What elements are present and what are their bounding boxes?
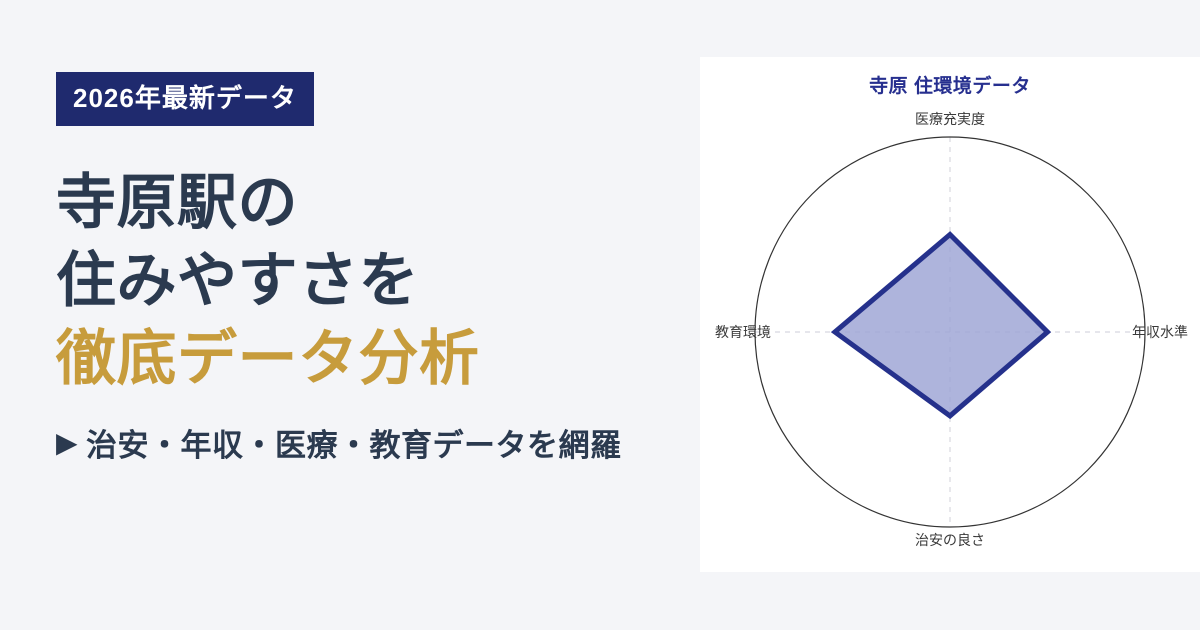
axis-label-bottom: 治安の良さ [915, 532, 985, 548]
axis-label-top: 医療充実度 [915, 111, 985, 127]
headline-line-2: 住みやすさを [56, 242, 700, 320]
axis-label-left: 教育環境 [715, 324, 771, 340]
headline-line-1: 寺原駅の [56, 164, 700, 242]
page-title: 寺原駅の 住みやすさを 徹底データ分析 [56, 164, 700, 398]
hero-text-column: 2026年最新データ 寺原駅の 住みやすさを 徹底データ分析 ▶ 治安・年収・医… [0, 0, 700, 630]
radar-chart-card: 寺原 住環境データ 医療充実度 年収水準 治安の良さ 教育環境 [700, 57, 1200, 572]
headline-accent-line: 徹底データ分析 [56, 320, 700, 398]
latest-data-badge: 2026年最新データ [56, 72, 314, 126]
data-polygon [835, 235, 1048, 416]
radar-chart: 医療充実度 年収水準 治安の良さ 教育環境 [700, 57, 1200, 572]
subtitle: ▶ 治安・年収・医療・教育データを網羅 [56, 420, 700, 465]
triangle-bullet-icon: ▶ [56, 429, 78, 457]
subtitle-text: 治安・年収・医療・教育データを網羅 [86, 420, 622, 465]
axis-label-right: 年収水準 [1132, 324, 1188, 340]
